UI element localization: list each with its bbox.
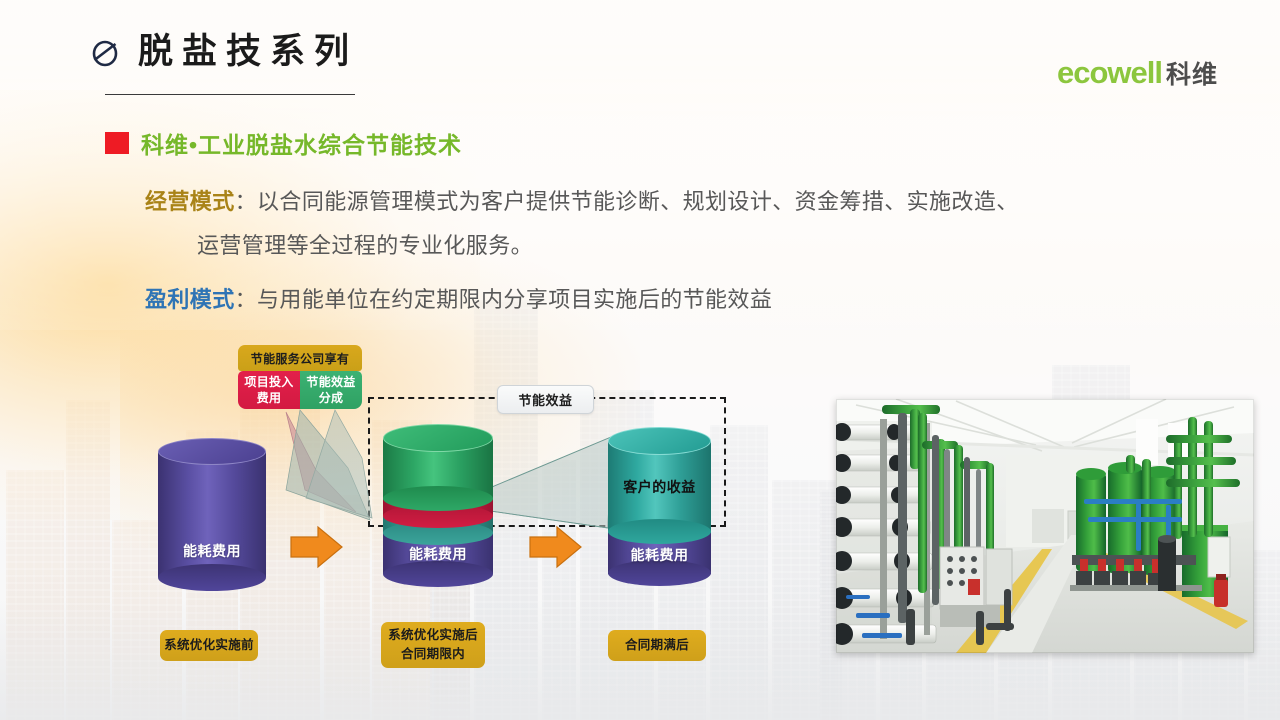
arrow-right-icon-1 (288, 524, 346, 570)
cylinder3-label: 能耗费用 (608, 545, 711, 565)
title-underline (105, 94, 355, 95)
box-project-investment: 项目投入 费用 (238, 371, 300, 409)
brand-name-cn: 科维 (1166, 63, 1218, 88)
slide-root: 脱盐技系列 ecowell 科维 科维•工业脱盐水综合节能技术 经营模式：以合同… (0, 0, 1280, 720)
page-title: 脱盐技系列 (138, 34, 358, 69)
paragraph-business-model-line2: 运营管理等全过程的专业化服务。 (197, 224, 1235, 268)
box-esco-share: 节能服务公司享有 (238, 345, 362, 371)
arrow-right-icon-2 (527, 524, 585, 570)
colon-1: ： (235, 189, 257, 214)
cylinder1-label: 能耗费用 (158, 541, 266, 561)
ecowell-logo: ecowell 科维 (1057, 57, 1218, 88)
label-profit-model: 盈利模式 (145, 287, 235, 312)
cylinder-before-optimization: 能耗费用 (158, 438, 266, 590)
cylinder-during-contract: 能耗费用 (383, 424, 493, 592)
footer-label-3: 合同期满后 (608, 630, 706, 661)
water-treatment-plant-photo (836, 399, 1254, 653)
section-heading-label: 科维•工业脱盐水综合节能技术 (141, 126, 462, 160)
paragraph-profit-model-line1: 与用能单位在约定期限内分享项目实施后的节能效益 (257, 287, 772, 312)
cylinder2-label: 能耗费用 (383, 544, 493, 564)
box-project-investment-line2: 费用 (257, 390, 282, 406)
benefit-chip-label: 节能效益 (497, 385, 594, 414)
colon-2: ： (235, 287, 257, 312)
paragraph-profit-model: 盈利模式：与用能单位在约定期限内分享项目实施后的节能效益 (145, 278, 1145, 322)
label-business-model: 经营模式 (145, 189, 235, 214)
box-benefit-share-line2: 分成 (319, 390, 344, 406)
footer-label-1-line1: 系统优化实施前 (164, 636, 254, 655)
slide-header: 脱盐技系列 (88, 34, 358, 69)
box-benefit-share: 节能效益 分成 (300, 371, 362, 409)
cylinder3-top-label: 客户的收益 (608, 477, 711, 497)
footer-label-2-line2: 合同期限内 (401, 645, 465, 664)
footer-label-1: 系统优化实施前 (160, 630, 258, 661)
footer-label-2: 系统优化实施后 合同期限内 (381, 622, 485, 668)
footer-label-3-line1: 合同期满后 (625, 636, 689, 655)
section-heading: 科维•工业脱盐水综合节能技术 (105, 126, 462, 160)
paragraph-business-model: 经营模式：以合同能源管理模式为客户提供节能诊断、规划设计、资金筹措、实施改造、 … (145, 180, 1235, 268)
cylinder-after-contract: 客户的收益 能耗费用 (608, 427, 711, 591)
footer-label-2-line1: 系统优化实施后 (388, 626, 478, 645)
paragraph-business-model-line1: 以合同能源管理模式为客户提供节能诊断、规划设计、资金筹措、实施改造、 (257, 189, 1019, 214)
brand-name-latin: ecowell (1057, 57, 1162, 88)
circle-slash-icon (88, 35, 122, 69)
red-square-bullet-icon (105, 132, 129, 154)
box-project-investment-line1: 项目投入 (244, 374, 293, 390)
box-benefit-share-line1: 节能效益 (306, 374, 355, 390)
